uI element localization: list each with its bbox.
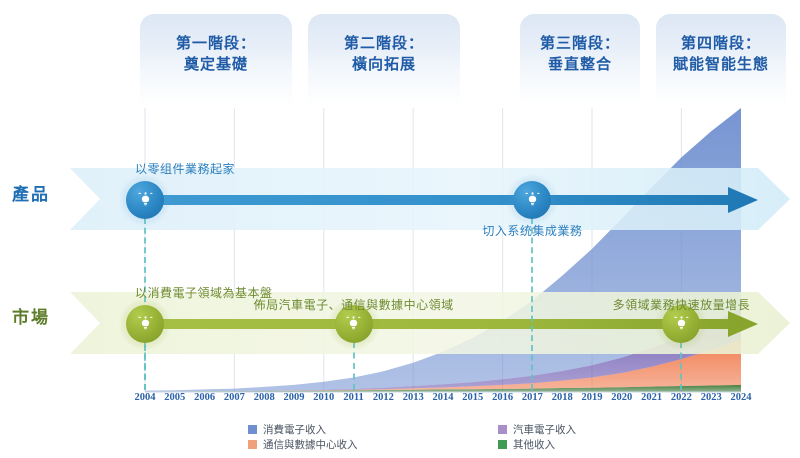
stage-title-4: 第四階段： 賦能智能生態 xyxy=(656,14,786,76)
axis-year-2024: 2024 xyxy=(724,392,758,403)
row-label-market: 市場 xyxy=(12,303,50,328)
product-arrow xyxy=(150,187,758,213)
legend-item-2[interactable]: 通信與數據中心收入 xyxy=(248,437,358,452)
stage-card-2: 第二階段： 橫向拓展 xyxy=(308,14,460,106)
stage-title-1: 第一階段： 奠定基礎 xyxy=(140,14,292,76)
legend-item-1[interactable]: 消費電子收入 xyxy=(248,422,326,437)
market-milestone-caption-2: 佈局汽車電子、通信與數據中心領域 xyxy=(254,296,454,313)
legend-swatch xyxy=(248,440,257,449)
legend-label: 消費電子收入 xyxy=(263,422,326,437)
product-milestone-caption-1: 以零组件業務起家 xyxy=(135,160,235,177)
legend-swatch xyxy=(498,440,507,449)
market-milestone-caption-3: 多領域業務快速放量增長 xyxy=(613,296,751,313)
legend-label: 通信與數據中心收入 xyxy=(263,437,358,452)
row-label-product: 產品 xyxy=(12,180,50,205)
legend-label: 其他收入 xyxy=(513,437,555,452)
stage-card-1: 第一階段： 奠定基礎 xyxy=(140,14,292,106)
lightbulb-icon xyxy=(126,305,164,343)
product-connector-2 xyxy=(531,218,533,390)
product-milestone-caption-2: 切入系统集成業務 xyxy=(482,222,582,239)
market-milestone-caption-1: 以消費電子領域為基本盤 xyxy=(135,284,273,301)
legend-swatch xyxy=(498,425,507,434)
legend-label: 汽車電子收入 xyxy=(513,422,576,437)
chart-legend: 消費電子收入通信與數據中心收入汽車電子收入其他收入 xyxy=(0,420,800,452)
stage-title-3: 第三階段： 垂直整合 xyxy=(520,14,640,76)
stage-card-4: 第四階段： 賦能智能生態 xyxy=(656,14,786,106)
stage-title-2: 第二階段： 橫向拓展 xyxy=(308,14,460,76)
product-milestone-node-2[interactable] xyxy=(513,181,551,219)
market-milestone-node-1[interactable] xyxy=(126,305,164,343)
legend-item-4[interactable]: 其他收入 xyxy=(498,437,555,452)
product-milestone-node-1[interactable] xyxy=(126,181,164,219)
stage-card-3: 第三階段： 垂直整合 xyxy=(520,14,640,106)
legend-item-3[interactable]: 汽車電子收入 xyxy=(498,422,576,437)
lightbulb-icon xyxy=(126,181,164,219)
legend-swatch xyxy=(248,425,257,434)
infographic-canvas: 第一階段： 奠定基礎第二階段： 橫向拓展第三階段： 垂直整合第四階段： 賦能智能… xyxy=(0,0,800,458)
year-axis: 2004200520062007200820092010201120122013… xyxy=(0,392,800,412)
